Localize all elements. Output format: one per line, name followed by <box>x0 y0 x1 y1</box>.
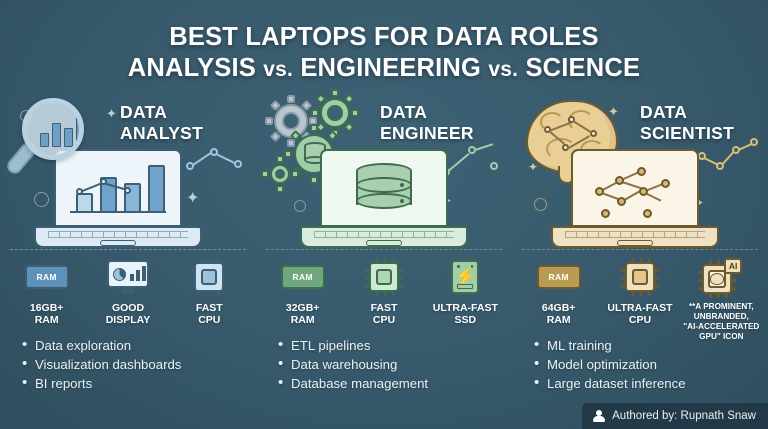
spec-badge[interactable]: ULTRA-FAST CPU <box>601 256 679 326</box>
column-data-analyst: ✦ ✦ <box>0 96 256 406</box>
role-columns: ✦ ✦ <box>0 96 768 406</box>
illustration-data-scientist: ✦ ✦ ✦ <box>520 96 760 254</box>
laptop-graphic <box>54 149 202 248</box>
spec-badge[interactable]: AI **A PROMINENT, UNBRANDED, "AI-ACCELER… <box>682 256 760 342</box>
title-vs-1: vs. <box>263 58 293 81</box>
role-title-line-1: DATA <box>120 102 232 123</box>
list-item: BI reports <box>22 374 256 393</box>
infographic-poster: BEST LAPTOPS FOR DATA ROLES ANALYSIS vs.… <box>0 0 768 429</box>
list-item: ML training <box>534 336 768 355</box>
cpu-chip-icon <box>345 256 423 298</box>
desk-line <box>10 249 246 250</box>
role-title-line-2: SCIENTIST <box>640 123 752 144</box>
spec-badges-data-scientist: RAM 64GB+ RAM <box>512 256 768 342</box>
spec-label: 64GB+ RAM <box>520 302 598 326</box>
spec-badges-data-analyst: RAM 16GB+ RAM <box>0 256 256 326</box>
ram-stick-icon: RAM <box>264 256 342 298</box>
list-item: Large dataset inference <box>534 374 768 393</box>
title-part-science: SCIENCE <box>518 54 640 82</box>
ram-stick-icon: RAM <box>520 256 598 298</box>
role-title-line-1: DATA <box>640 102 752 123</box>
spec-badge[interactable]: GOOD DISPLAY <box>89 256 167 326</box>
spec-badge[interactable]: RAM 16GB+ RAM <box>8 256 86 326</box>
gear-icon <box>270 164 290 184</box>
laptop-base <box>551 226 719 248</box>
monitor-chart-icon <box>89 256 167 298</box>
author-credit-text: Authored by: Rupnath Snaw <box>612 410 756 422</box>
spec-badges-data-engineer: RAM 32GB+ RAM <box>256 256 512 326</box>
list-item: Data warehousing <box>278 355 512 374</box>
bullet-list-data-scientist: ML training Model optimization Large dat… <box>512 336 768 393</box>
spec-badge[interactable]: RAM 64GB+ RAM <box>520 256 598 326</box>
ram-chip-text: RAM <box>37 272 57 282</box>
title-part-analysis: ANALYSIS <box>128 54 263 82</box>
spec-badge[interactable]: FAST CPU <box>345 256 423 326</box>
person-icon <box>592 410 605 423</box>
list-item: Visualization dashboards <box>22 355 256 374</box>
laptop-base <box>300 226 468 248</box>
spec-label: 16GB+ RAM <box>8 302 86 326</box>
title-part-engineering: ENGINEERING <box>293 54 488 82</box>
role-title-data-scientist: DATA SCIENTIST <box>640 102 752 144</box>
spec-label: ULTRA-FAST SSD <box>426 302 504 326</box>
laptop-screen <box>54 149 182 227</box>
column-data-scientist: ✦ ✦ ✦ <box>512 96 768 406</box>
column-data-engineer: ✦ <box>256 96 512 406</box>
cpu-chip-icon <box>170 256 248 298</box>
laptop-graphic <box>571 149 719 248</box>
role-title-line-2: ANALYST <box>120 123 232 144</box>
bullet-list-data-engineer: ETL pipelines Data warehousing Database … <box>256 336 512 393</box>
role-title-data-analyst: DATA ANALYST <box>120 102 232 144</box>
illustration-data-analyst: ✦ ✦ <box>8 96 248 254</box>
magnifying-glass-icon <box>22 98 84 160</box>
spec-label: FAST CPU <box>170 302 248 326</box>
gear-icon <box>320 98 350 128</box>
cpu-chip-icon <box>601 256 679 298</box>
ssd-lightning-icon: ⚡ <box>426 256 504 298</box>
list-item: ETL pipelines <box>278 336 512 355</box>
deco-circle <box>34 192 49 207</box>
spec-label: FAST CPU <box>345 302 423 326</box>
desk-line <box>522 249 758 250</box>
ram-chip-text: RAM <box>293 272 313 282</box>
spec-badge[interactable]: ⚡ ULTRA-FAST SSD <box>426 256 504 326</box>
ai-tag-label: AI <box>724 258 743 274</box>
ai-gpu-chip-icon: AI <box>682 256 760 298</box>
ram-stick-icon: RAM <box>8 256 86 298</box>
spec-label: GOOD DISPLAY <box>89 302 167 326</box>
title-line-1: BEST LAPTOPS FOR DATA ROLES <box>0 22 768 52</box>
bullet-list-data-analyst: Data exploration Visualization dashboard… <box>0 336 256 393</box>
laptop-base <box>34 226 202 248</box>
neural-network-graphic <box>573 151 697 225</box>
laptop-screen <box>320 149 448 227</box>
overlay-line <box>70 161 166 213</box>
page-title: BEST LAPTOPS FOR DATA ROLES ANALYSIS vs.… <box>0 22 768 86</box>
spec-label: 32GB+ RAM <box>264 302 342 326</box>
list-item: Data exploration <box>22 336 256 355</box>
role-title-line-2: ENGINEER <box>380 123 492 144</box>
ram-chip-text: RAM <box>549 272 569 282</box>
database-icon <box>356 163 412 217</box>
bar-chart-graphic <box>70 161 166 213</box>
title-line-2: ANALYSIS vs. ENGINEERING vs. SCIENCE <box>0 52 768 86</box>
deco-circle <box>534 198 547 211</box>
role-title-line-1: DATA <box>380 102 492 123</box>
list-item: Model optimization <box>534 355 768 374</box>
spec-badge[interactable]: FAST CPU <box>170 256 248 326</box>
spec-badge[interactable]: RAM 32GB+ RAM <box>264 256 342 326</box>
laptop-graphic <box>320 149 468 248</box>
title-vs-2: vs. <box>488 58 518 81</box>
list-item: Database management <box>278 374 512 393</box>
illustration-data-engineer: ✦ <box>264 96 504 254</box>
sparkle-icon: ✦ <box>106 106 117 122</box>
role-title-data-engineer: DATA ENGINEER <box>380 102 492 144</box>
deco-circle <box>294 200 306 212</box>
author-credit-bar: Authored by: Rupnath Snaw <box>582 403 768 429</box>
desk-line <box>266 249 502 250</box>
laptop-screen <box>571 149 699 227</box>
spec-label: ULTRA-FAST CPU <box>601 302 679 326</box>
